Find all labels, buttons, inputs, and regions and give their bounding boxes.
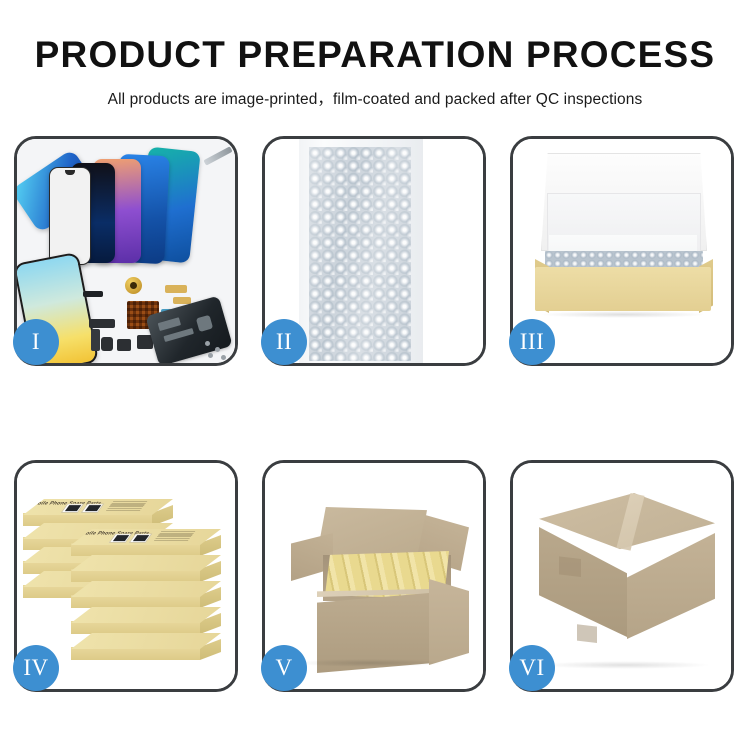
speaker-coil-part — [125, 277, 142, 294]
open-shipping-carton — [291, 501, 463, 661]
product-preparation-poster: PRODUCT PREPARATION PROCESS All products… — [0, 0, 750, 750]
process-step-4[interactable]: Mobile Phone Spare Parts — [14, 460, 238, 692]
poster-header: PRODUCT PREPARATION PROCESS All products… — [0, 0, 750, 109]
phone-screen-5 — [49, 167, 91, 265]
flex-cable-part-a — [89, 319, 115, 328]
stacked-box-5: Mobile Phone Spare Parts — [71, 529, 221, 555]
sim-tray-part — [101, 337, 113, 351]
flex-cable-part-b — [91, 329, 100, 351]
stacked-box-6 — [71, 555, 221, 581]
process-row-bottom: Mobile Phone Spare Parts — [0, 460, 750, 692]
carton-side-face — [429, 579, 469, 665]
screw-3 — [208, 353, 213, 358]
process-step-1[interactable]: I — [14, 136, 238, 366]
step-badge-5: V — [261, 645, 307, 691]
flex-cable-part-c — [165, 285, 187, 293]
page-subtitle: All products are image-printed，film-coat… — [0, 87, 750, 109]
step-badge-2: II — [261, 319, 307, 365]
box-stack: Mobile Phone Spare Parts — [23, 489, 229, 675]
step-badge-3: III — [509, 319, 555, 365]
sealed-carton-right-face — [627, 533, 715, 639]
process-step-5[interactable]: V — [262, 460, 486, 692]
page-title: PRODUCT PREPARATION PROCESS — [0, 36, 750, 73]
step-badge-6: VI — [509, 645, 555, 691]
step-badge-4: IV — [13, 645, 59, 691]
flex-cable-part-f — [83, 291, 103, 297]
box-label: Mobile Phone Spare Parts — [21, 500, 150, 512]
process-step-grid: I II — [0, 136, 750, 692]
stacked-box-7 — [71, 581, 221, 607]
board-chip-1 — [158, 317, 181, 331]
phone-screen-fan — [33, 147, 233, 267]
process-row-top: I II — [0, 136, 750, 366]
process-step-3[interactable]: III — [510, 136, 734, 366]
stacked-box-1: Mobile Phone Spare Parts — [23, 499, 173, 525]
sealed-carton-drop-shadow — [539, 661, 711, 669]
process-step-6[interactable]: VI — [510, 460, 734, 692]
carton-patch-2 — [577, 623, 597, 643]
box-spec-lines — [106, 501, 147, 511]
screw-4 — [221, 355, 226, 360]
carton-back-flap — [317, 507, 427, 559]
board-chip-3 — [196, 315, 213, 332]
sealed-shipping-carton — [535, 493, 715, 665]
kraft-box-front-face — [535, 267, 711, 311]
stacked-box-8 — [71, 607, 221, 633]
step-badge-1: I — [13, 319, 59, 365]
carton-drop-shadow — [295, 659, 445, 667]
screws-group — [203, 339, 231, 361]
board-chip-2 — [163, 328, 193, 342]
screw-1 — [205, 341, 210, 346]
process-step-2[interactable]: II — [262, 136, 486, 366]
stacked-box-9 — [71, 633, 221, 659]
box-top-face: Mobile Phone Spare Parts — [23, 499, 173, 515]
camera-module-part — [117, 339, 131, 351]
box-drop-shadow — [539, 311, 707, 318]
screw-2 — [215, 347, 220, 352]
bubble-wrap-gloss — [309, 147, 411, 361]
